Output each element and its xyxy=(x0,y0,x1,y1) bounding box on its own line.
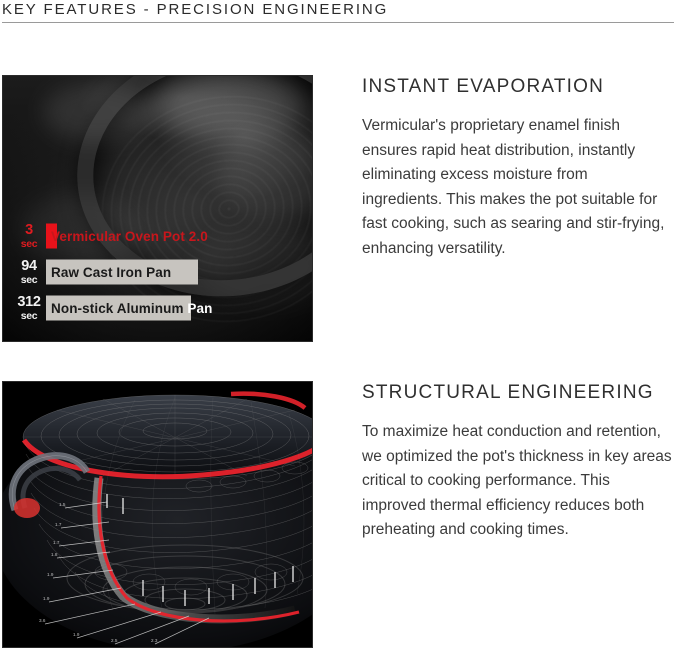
page-title: KEY FEATURES - PRECISION ENGINEERING xyxy=(2,0,677,19)
bar-category-label: Vermicular Oven Pot 2.0 xyxy=(46,229,208,244)
feature-row-instant-evaporation: 3 sec Vermicular Oven Pot 2.0 94 sec xyxy=(0,75,679,343)
bar-category-label-overflow: Pan xyxy=(187,301,212,316)
svg-text:1.8: 1.8 xyxy=(51,552,58,557)
svg-text:2.3: 2.3 xyxy=(151,638,158,643)
svg-text:3.6: 3.6 xyxy=(39,618,46,623)
feature-title: STRUCTURAL ENGINEERING xyxy=(362,381,672,405)
feature-title: INSTANT EVAPORATION xyxy=(362,75,672,99)
bar-row: 3 sec Vermicular Oven Pot 2.0 xyxy=(12,219,313,253)
cad-wireframe-svg: 1.5 1.7 1.7 1.8 1.9 1.9 3.6 1.9 2.5 2.3 xyxy=(3,382,312,647)
steam-wisp xyxy=(43,82,153,142)
bar-value-number: 3 xyxy=(12,223,46,238)
bar-value-unit: sec xyxy=(12,239,46,250)
feature-copy: STRUCTURAL ENGINEERING To maximize heat … xyxy=(362,381,672,543)
feature-media-steaming-pot: 3 sec Vermicular Oven Pot 2.0 94 sec xyxy=(2,75,313,342)
bar-value-label: 312 sec xyxy=(12,295,46,321)
bar-value-number: 94 xyxy=(12,259,46,274)
bar-value-number: 312 xyxy=(12,295,46,310)
bar-row: 312 sec Non-stick Aluminum Pan xyxy=(12,291,313,325)
feature-body: Vermicular's proprietary enamel finish e… xyxy=(362,114,672,261)
bar-track: Non-stick Aluminum Pan xyxy=(46,291,313,325)
header-divider xyxy=(2,22,674,23)
bar-value-label: 3 sec xyxy=(12,223,46,249)
bar-track: Vermicular Oven Pot 2.0 xyxy=(46,219,313,253)
bar-value-unit: sec xyxy=(12,311,46,322)
feature-body: To maximize heat conduction and retentio… xyxy=(362,420,672,543)
svg-text:1.9: 1.9 xyxy=(73,632,80,637)
svg-text:1.9: 1.9 xyxy=(47,572,54,577)
bar-category-label: Non-stick Aluminum Pan xyxy=(46,301,212,316)
svg-text:1.7: 1.7 xyxy=(55,522,62,527)
svg-text:2.5: 2.5 xyxy=(111,638,118,643)
bar-category-label: Raw Cast Iron Pan xyxy=(46,265,171,280)
bar-value-unit: sec xyxy=(12,275,46,286)
svg-text:1.5: 1.5 xyxy=(59,502,66,507)
bar-track: Raw Cast Iron Pan xyxy=(46,255,313,289)
feature-copy: INSTANT EVAPORATION Vermicular's proprie… xyxy=(362,75,672,261)
feature-row-structural-engineering: 1.5 1.7 1.7 1.8 1.9 1.9 3.6 1.9 2.5 2.3 xyxy=(0,381,679,649)
bar-row: 94 sec Raw Cast Iron Pan xyxy=(12,255,313,289)
bar-value-label: 94 sec xyxy=(12,259,46,285)
section-header: KEY FEATURES - PRECISION ENGINEERING xyxy=(2,0,677,23)
cad-wireframe-pot: 1.5 1.7 1.7 1.8 1.9 1.9 3.6 1.9 2.5 2.3 xyxy=(3,382,312,647)
feature-media-cad-wireframe: 1.5 1.7 1.7 1.8 1.9 1.9 3.6 1.9 2.5 2.3 xyxy=(2,381,313,648)
svg-text:1.7: 1.7 xyxy=(53,540,60,545)
svg-text:1.9: 1.9 xyxy=(43,596,50,601)
key-features-section: KEY FEATURES - PRECISION ENGINEERING 3 s… xyxy=(0,0,679,653)
evaporation-bar-chart: 3 sec Vermicular Oven Pot 2.0 94 sec xyxy=(3,219,313,327)
